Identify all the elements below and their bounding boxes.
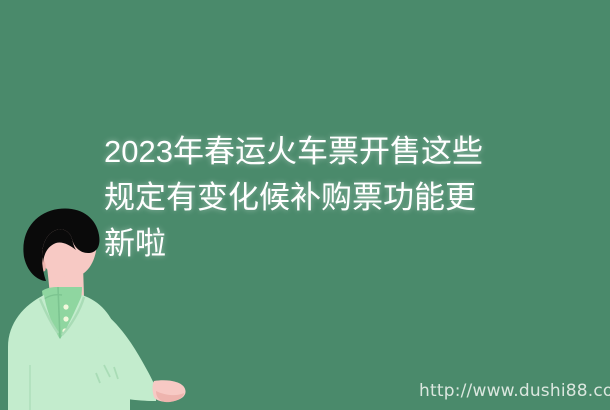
arm-shape <box>93 313 156 401</box>
collar-button <box>63 316 68 321</box>
headline-text: 2023年春运火车票开售这些规定有变化候补购票功能更新啦 <box>104 129 496 267</box>
collar-button <box>63 304 68 309</box>
image-canvas: 2023年春运火车票开售这些规定有变化候补购票功能更新啦 http://www.… <box>0 0 610 410</box>
watermark-url: http://www.dushi88.com.cn <box>419 381 610 401</box>
hand-shape <box>153 380 186 402</box>
